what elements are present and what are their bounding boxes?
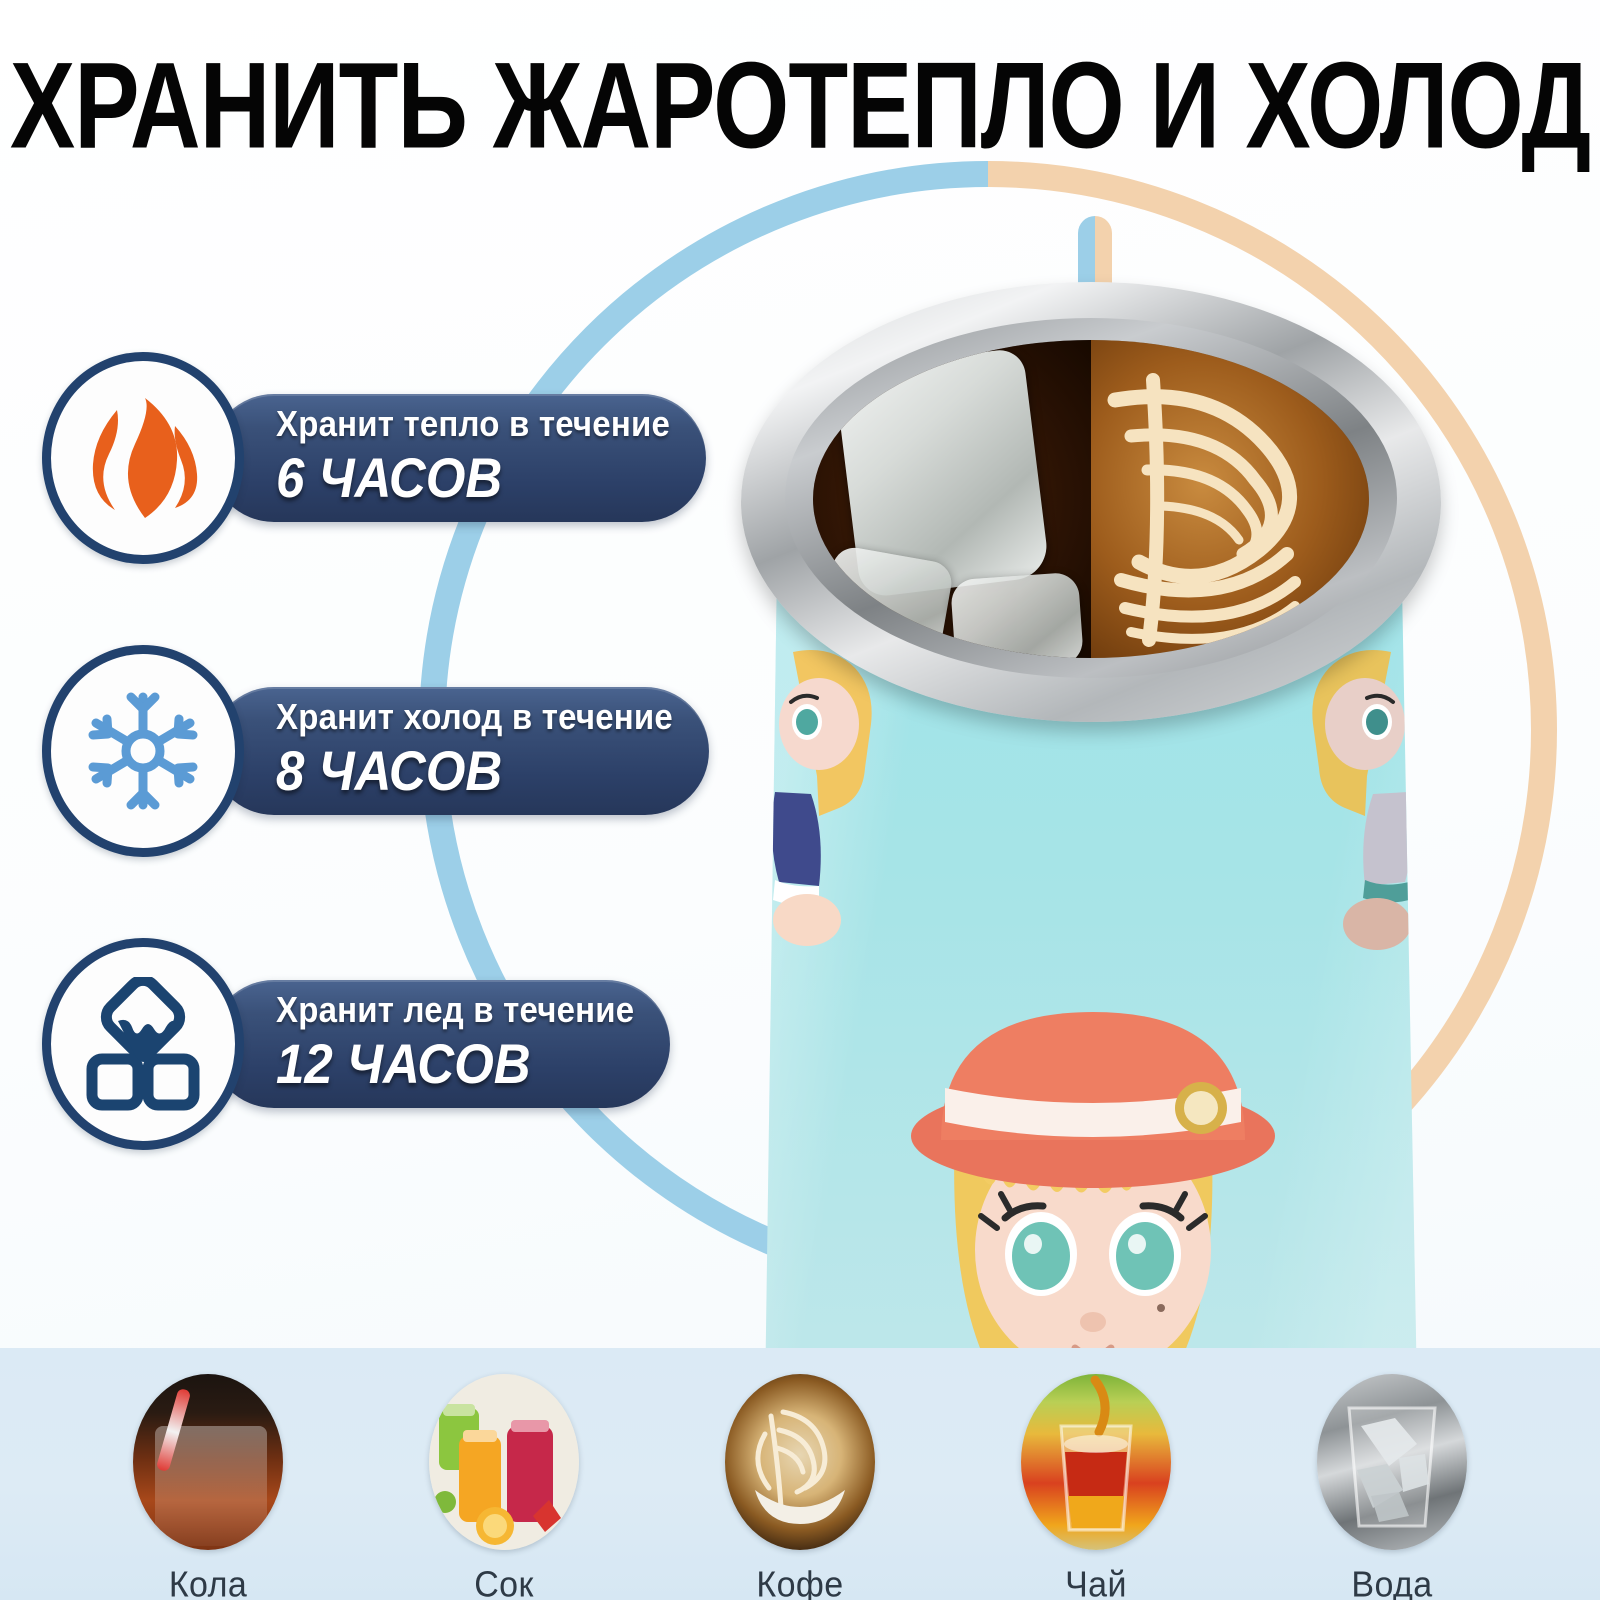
doll-side-right-graphic [1269, 642, 1419, 972]
cold-duration-pill: Хранит холод в течение 8 ЧАСОВ [210, 687, 709, 815]
drink-item-coffee[interactable]: Кофе [705, 1374, 895, 1600]
juice-bottles-graphic [429, 1374, 579, 1550]
drink-label: Кофе [756, 1565, 843, 1600]
cold-icon-disc [42, 645, 244, 857]
drink-item-juice[interactable]: Сок [409, 1374, 599, 1600]
tumbler-contents [813, 340, 1369, 658]
hot-latte-half [1091, 340, 1369, 658]
feature-badge-cold[interactable]: Хранит холод в течение 8 ЧАСОВ [42, 645, 709, 857]
tea-image [1021, 1374, 1171, 1550]
infographic-canvas: ХРАНИТЬ ЖАРОТЕПЛО И ХОЛОД [0, 0, 1600, 1600]
ice-cube [819, 544, 955, 658]
heat-caption: Хранит тепло в течение [276, 403, 670, 445]
heat-icon-disc [42, 352, 244, 564]
heat-duration: 6 ЧАСОВ [276, 446, 678, 511]
ice-caption: Хранит лед в течение [276, 989, 634, 1031]
drink-label: Вода [1351, 1565, 1432, 1600]
feature-badge-ice[interactable]: Хранит лед в течение 12 ЧАСОВ [42, 938, 670, 1150]
heat-duration-pill: Хранит тепло в течение 6 ЧАСОВ [210, 394, 706, 522]
ice-icon-disc [42, 938, 244, 1150]
flame-heat-icon [83, 392, 203, 524]
snowflake-icon [81, 685, 205, 817]
water-image [1317, 1374, 1467, 1550]
drink-item-tea[interactable]: Чай [1001, 1374, 1191, 1600]
drink-item-cola[interactable]: Кола [113, 1374, 303, 1600]
ice-cube [950, 572, 1084, 658]
drink-label: Кола [169, 1565, 247, 1600]
doll-character-graphic [883, 950, 1303, 1357]
feature-badge-heat[interactable]: Хранит тепло в течение 6 ЧАСОВ [42, 352, 706, 564]
latte-art-rosetta-icon [1091, 340, 1369, 658]
drink-item-water[interactable]: Вода [1297, 1374, 1487, 1600]
cola-image [133, 1374, 283, 1550]
cold-duration: 8 ЧАСОВ [276, 739, 681, 804]
iced-coffee-half [813, 340, 1091, 658]
juice-image [429, 1374, 579, 1550]
drink-label: Чай [1065, 1565, 1127, 1600]
ice-duration: 12 ЧАСОВ [276, 1032, 641, 1097]
ice-water-glass-graphic [1317, 1374, 1467, 1550]
ice-duration-pill: Хранит лед в течение 12 ЧАСОВ [210, 980, 670, 1108]
doll-side-left-graphic [763, 642, 915, 972]
coffee-image [725, 1374, 875, 1550]
drink-label: Сок [474, 1565, 534, 1600]
cold-caption: Хранит холод в течение [276, 696, 673, 738]
ice-cube-icon [80, 977, 206, 1111]
tumbler-lid-rim [741, 282, 1441, 722]
iced-tea-glass-graphic [1021, 1374, 1171, 1550]
drinks-strip: Кола Сок [0, 1348, 1600, 1600]
coffee-latte-art-graphic [725, 1374, 875, 1550]
product-tumbler-image [757, 282, 1425, 1357]
